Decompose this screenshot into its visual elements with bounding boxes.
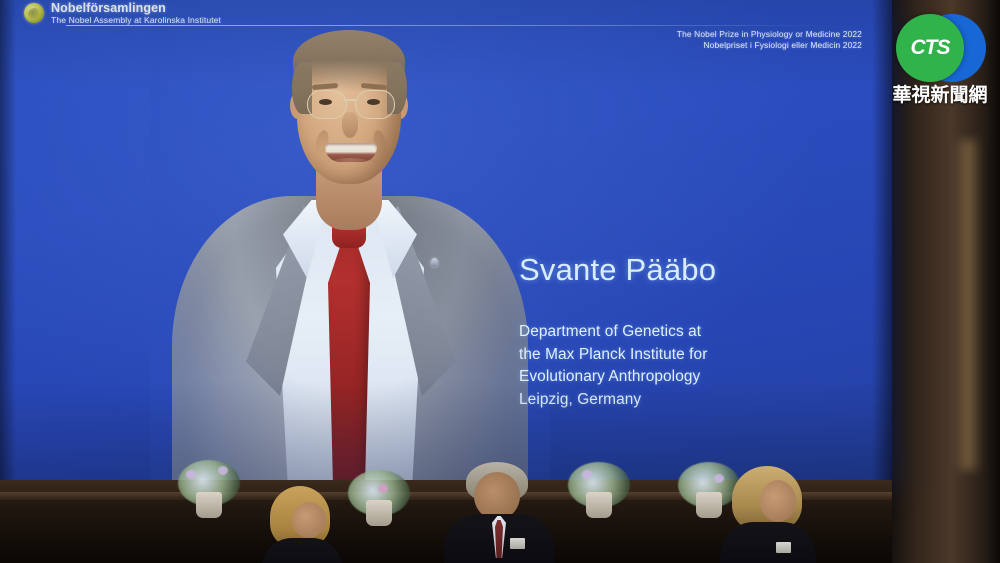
name-badge <box>776 542 791 553</box>
cts-initials: CTS <box>896 36 964 60</box>
audience-person <box>444 462 554 563</box>
audience-person <box>716 466 820 563</box>
audience-person <box>252 486 344 563</box>
name-badge <box>510 538 525 549</box>
cts-watermark: CTS 華視新聞網 <box>888 8 992 104</box>
cts-channel-name: 華視新聞網 <box>888 80 992 107</box>
flower-vase <box>366 500 392 526</box>
screen-vignette <box>0 0 892 487</box>
broadcast-frame: Nobelförsamlingen The Nobel Assembly at … <box>0 0 1000 563</box>
flower-vase <box>586 492 612 518</box>
flower-vase <box>196 492 222 518</box>
projection-screen: Nobelförsamlingen The Nobel Assembly at … <box>0 0 892 487</box>
wall-light-glow <box>955 140 981 470</box>
